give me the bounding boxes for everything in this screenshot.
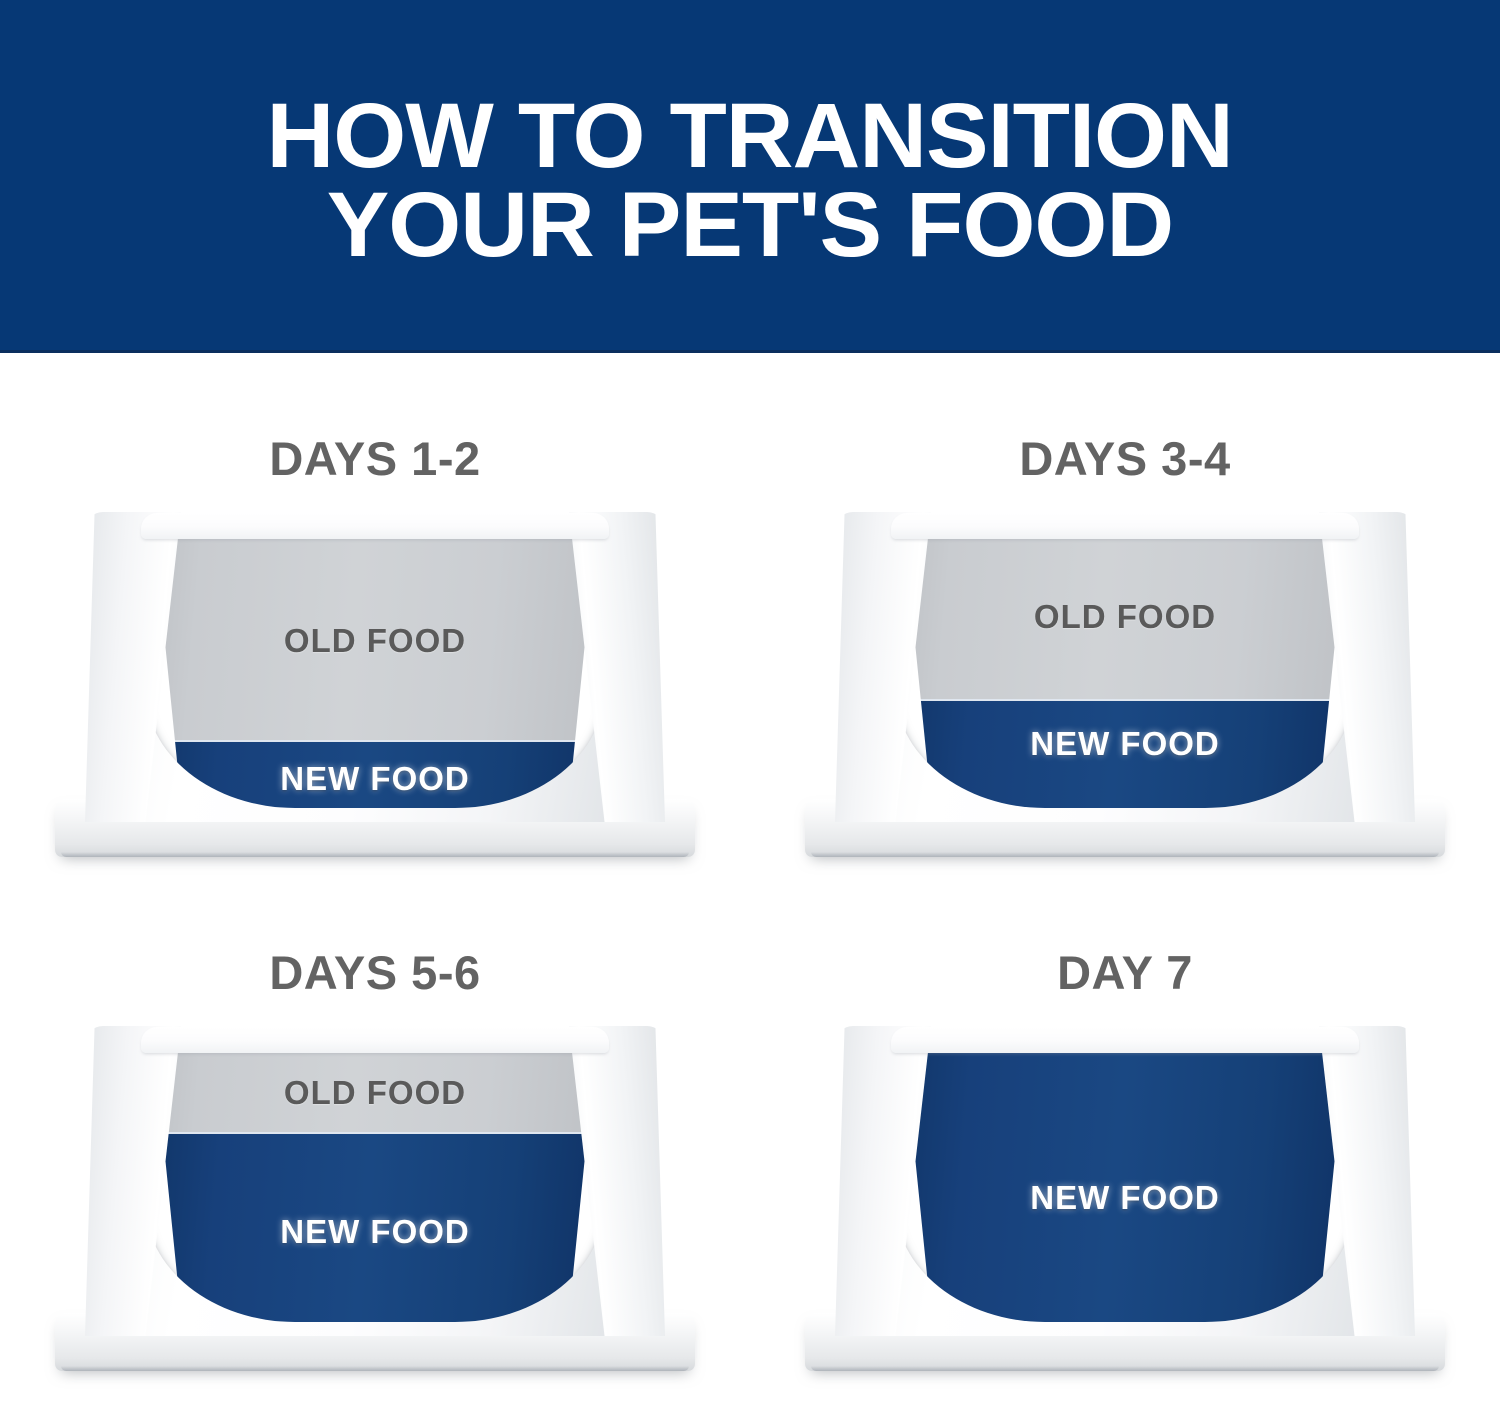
old-food-label: OLD FOOD [145,622,605,660]
old-food-label: OLD FOOD [145,1074,605,1112]
transition-steps-grid: DAYS 1-2 OLD FOOD NEW FOOD [0,353,1500,1401]
old-food-label: OLD FOOD [895,598,1355,636]
old-food-fill: OLD FOOD [145,536,605,740]
bowl-rim [891,513,1359,539]
step-card-days-5-6: DAYS 5-6 OLD FOOD NEW FOOD [0,883,750,1401]
step-title-days-5-6: DAYS 5-6 [269,945,480,1000]
new-food-fill: NEW FOOD [895,699,1355,808]
step-title-days-3-4: DAYS 3-4 [1019,431,1230,486]
page-title-line-1: HOW TO TRANSITION [267,92,1233,181]
bowl-cavity: OLD FOOD NEW FOOD [145,1050,605,1322]
new-food-label: NEW FOOD [895,1179,1355,1217]
new-food-fill: NEW FOOD [895,1050,1355,1322]
page-title-line-2: YOUR PET'S FOOD [327,181,1173,270]
new-food-fill: NEW FOOD [145,740,605,808]
food-bowl-day-7: NEW FOOD [805,1026,1445,1371]
infographic-page: HOW TO TRANSITION YOUR PET'S FOOD DAYS 1… [0,0,1500,1401]
step-card-day-7: DAY 7 NEW FOOD [750,883,1500,1401]
bowl-cavity: OLD FOOD NEW FOOD [895,536,1355,808]
step-title-day-7: DAY 7 [1057,945,1193,1000]
old-food-fill: OLD FOOD [895,536,1355,699]
food-bowl-days-3-4: OLD FOOD NEW FOOD [805,512,1445,857]
food-bowl-days-5-6: OLD FOOD NEW FOOD [55,1026,695,1371]
new-food-label: NEW FOOD [895,725,1355,763]
food-bowl-days-1-2: OLD FOOD NEW FOOD [55,512,695,857]
bowl-cavity: NEW FOOD [895,1050,1355,1322]
step-card-days-1-2: DAYS 1-2 OLD FOOD NEW FOOD [0,353,750,883]
page-header: HOW TO TRANSITION YOUR PET'S FOOD [0,0,1500,353]
bowl-rim [141,513,609,539]
step-title-days-1-2: DAYS 1-2 [269,431,480,486]
bowl-cavity: OLD FOOD NEW FOOD [145,536,605,808]
old-food-fill: OLD FOOD [145,1050,605,1132]
bowl-cavity-inner: NEW FOOD [895,1050,1355,1322]
new-food-label: NEW FOOD [145,760,605,798]
bowl-cavity-inner: OLD FOOD NEW FOOD [145,536,605,808]
step-card-days-3-4: DAYS 3-4 OLD FOOD NEW FOOD [750,353,1500,883]
bowl-cavity-inner: OLD FOOD NEW FOOD [145,1050,605,1322]
bowl-cavity-inner: OLD FOOD NEW FOOD [895,536,1355,808]
bowl-rim [891,1027,1359,1053]
bowl-rim [141,1027,609,1053]
new-food-fill: NEW FOOD [145,1132,605,1322]
new-food-label: NEW FOOD [145,1213,605,1251]
